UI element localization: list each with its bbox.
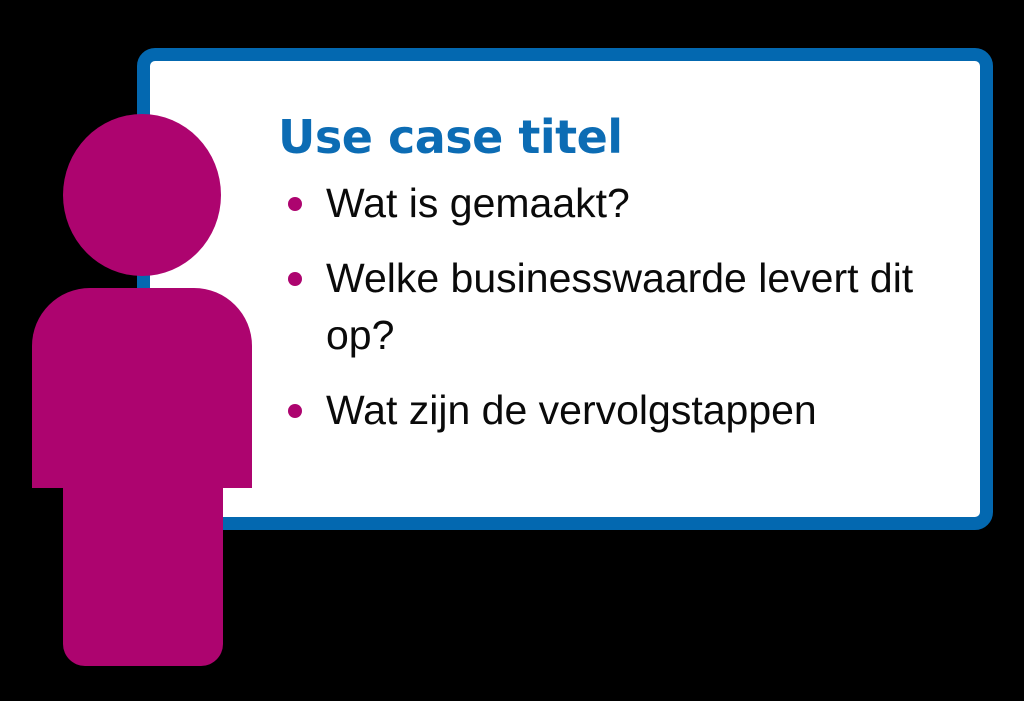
list-item-label: Welke businesswaarde levert dit op? <box>326 250 958 364</box>
whiteboard-content: Use case titel Wat is gemaakt? Welke bus… <box>278 111 958 439</box>
bullet-dot-icon <box>288 404 302 418</box>
whiteboard-panel: Use case titel Wat is gemaakt? Welke bus… <box>137 48 993 530</box>
list-item: Welke businesswaarde levert dit op? <box>278 250 958 364</box>
list-item-label: Wat zijn de vervolgstappen <box>326 382 958 439</box>
list-item: Wat is gemaakt? <box>278 175 958 232</box>
slide-canvas: Use case titel Wat is gemaakt? Welke bus… <box>0 0 1024 701</box>
bullet-dot-icon <box>288 197 302 211</box>
list-item-label: Wat is gemaakt? <box>326 175 958 232</box>
list-item: Wat zijn de vervolgstappen <box>278 382 958 439</box>
bullet-list: Wat is gemaakt? Welke businesswaarde lev… <box>278 175 958 439</box>
bullet-dot-icon <box>288 272 302 286</box>
page-title: Use case titel <box>278 111 958 163</box>
